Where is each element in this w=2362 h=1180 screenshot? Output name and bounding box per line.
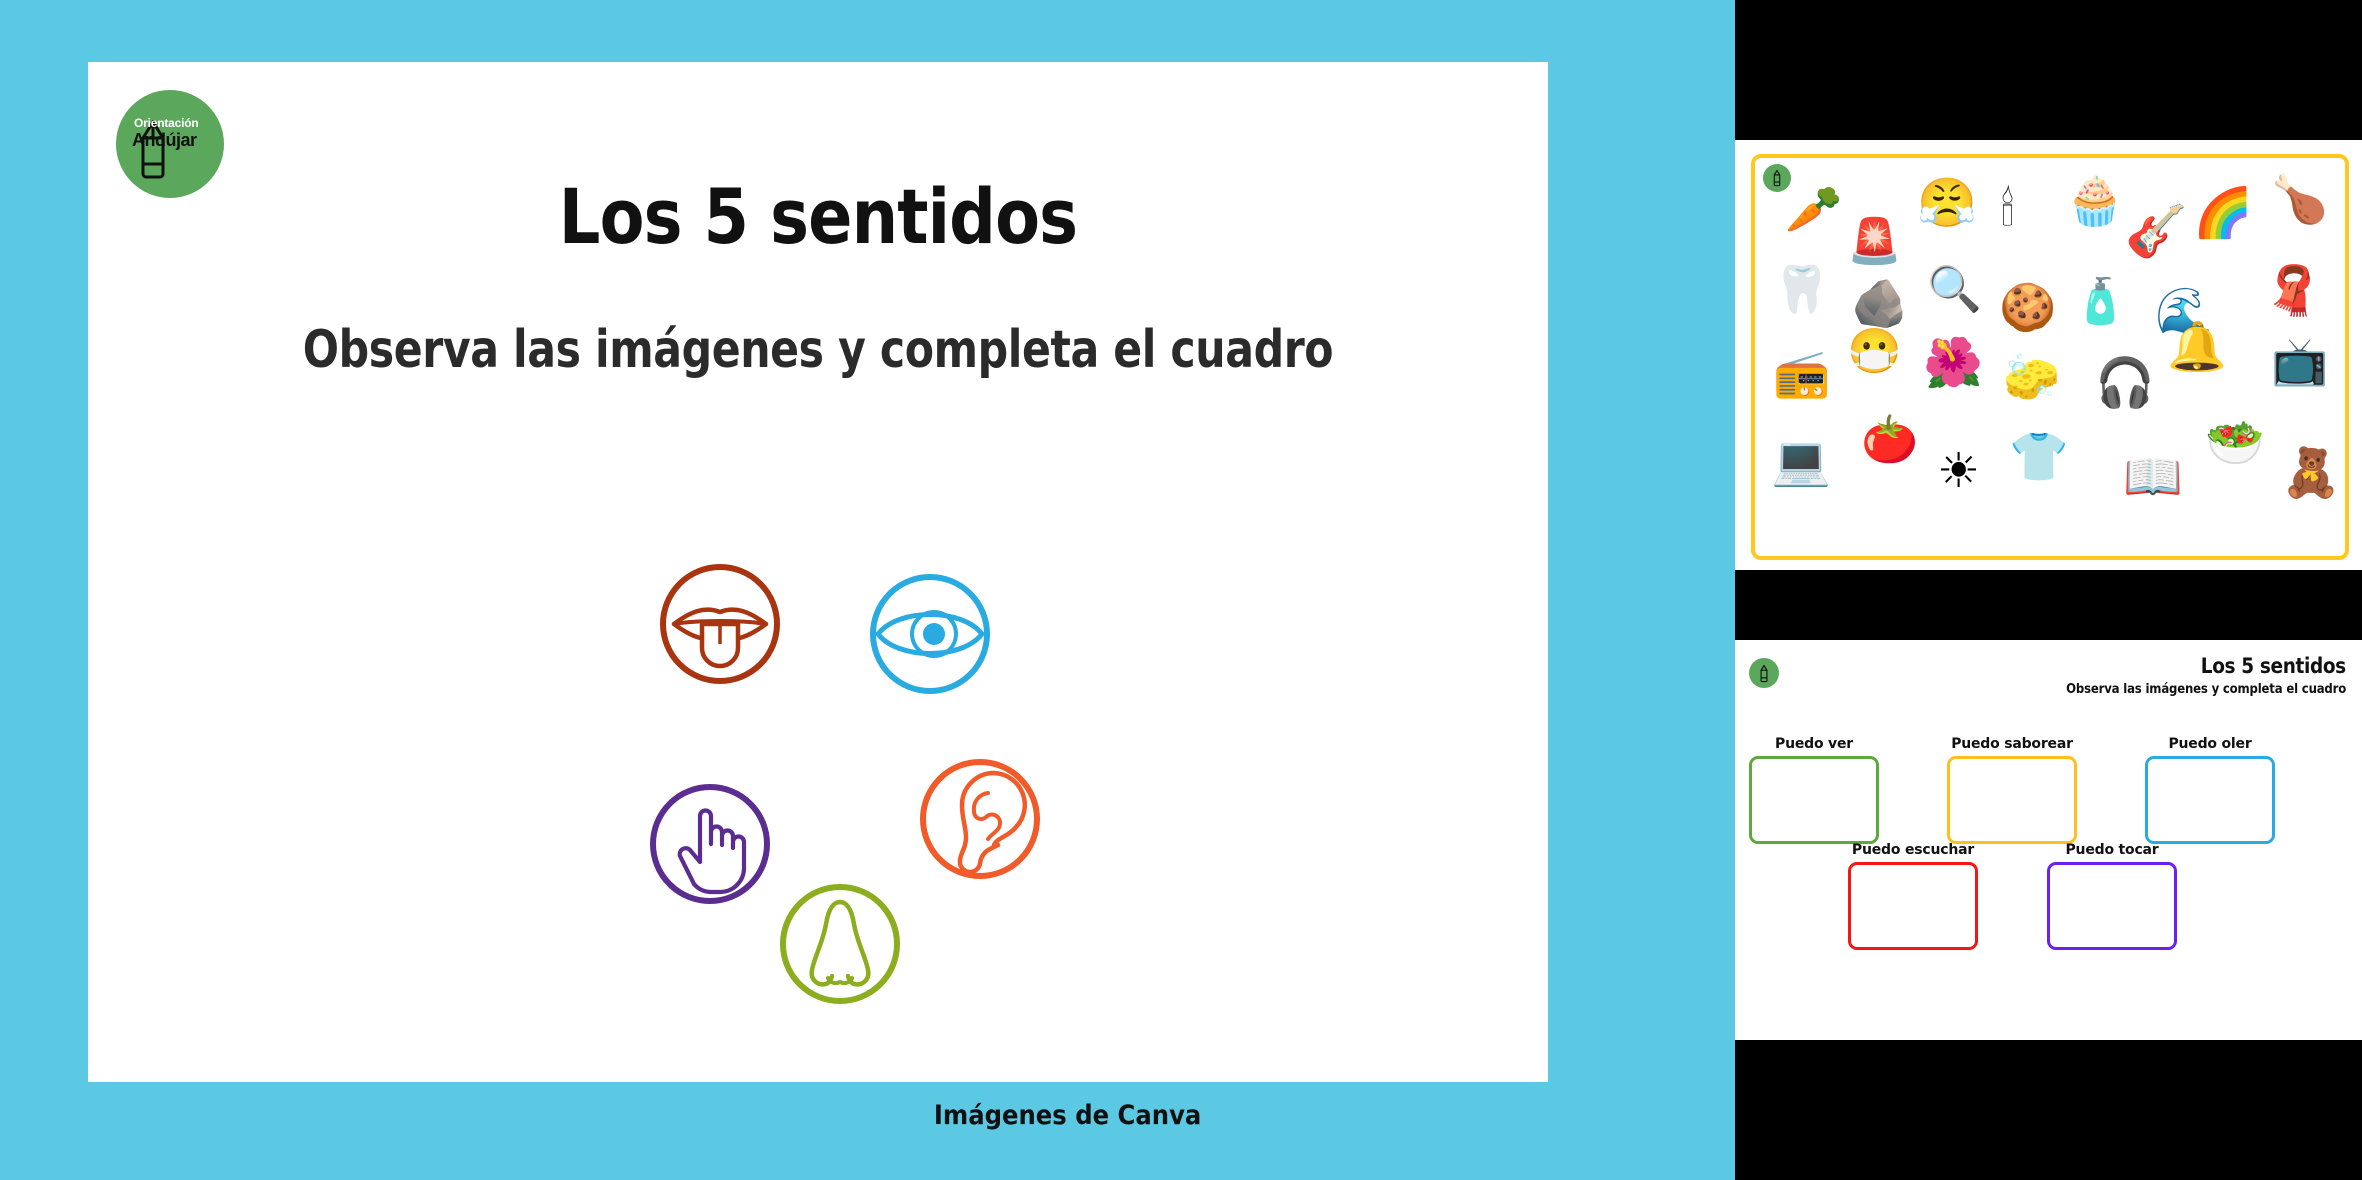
brand-logo[interactable]: Orientación Andújar	[116, 90, 224, 198]
answer-box-taste: Puedo saborear	[1947, 736, 2077, 844]
rock-sticker: 🪨	[1851, 280, 1908, 326]
rainbow-sticker: 🌈	[2193, 190, 2253, 238]
sense-icon-smell[interactable]	[778, 882, 902, 1006]
slide-pane: Los 5 sentidos Observa las imágenes y co…	[0, 0, 1735, 1180]
tshirt-sticker: 👕	[2009, 434, 2069, 482]
guitar-sticker: 🎸	[2125, 206, 2187, 256]
answer-box-smell: Puedo oler	[2145, 736, 2275, 844]
answer-box-label-sight: Puedo ver	[1749, 736, 1879, 752]
worksheet-panel: Los 5 sentidos Observa las imágenes y co…	[1735, 640, 2362, 1040]
salad-bowl-sticker: 🥗	[2205, 420, 2265, 468]
boy-with-mask-sticker: 😷	[1847, 330, 1902, 374]
mouth-tongue-icon	[658, 562, 782, 686]
page-subtitle: Observa las imágenes y completa el cuadr…	[219, 320, 1416, 380]
reed-diffuser-sticker: 🕯	[2001, 186, 2014, 232]
senses-diagram	[648, 552, 1168, 1092]
brand-logo-sheet[interactable]	[1749, 658, 1779, 688]
credit-text: Imágenes de Canva	[934, 1100, 1201, 1131]
brand-name-bottom: Andújar	[132, 130, 197, 151]
radio-sticker: 📻	[1773, 350, 1830, 396]
steaming-chicken-sticker: 🍗	[2271, 176, 2328, 222]
worksheet-subtitle: Observa las imágenes y completa el cuadr…	[2066, 682, 2346, 697]
answer-box-field-touch[interactable]	[2047, 862, 2177, 950]
sense-icon-sight[interactable]	[868, 572, 992, 696]
sun-sticker: ☀	[1937, 448, 1980, 496]
tomato-sticker: 🍅	[1861, 416, 1918, 462]
nose-icon	[778, 882, 902, 1006]
answer-box-touch: Puedo tocar	[2047, 842, 2177, 950]
page-title: Los 5 sentidos	[190, 172, 1446, 261]
bell-sticker: 🔔	[2167, 324, 2227, 372]
answer-box-label-touch: Puedo tocar	[2047, 842, 2177, 858]
answer-box-label-taste: Puedo saborear	[1947, 736, 2077, 752]
answer-box-field-taste[interactable]	[1947, 756, 2077, 844]
sense-icon-touch[interactable]	[648, 782, 772, 906]
pointing-hand-icon	[648, 782, 772, 906]
carrot-sticker: 🥕	[1785, 186, 1842, 232]
letterbox-top	[1735, 0, 2362, 140]
credit-line: Imágenes de Canva	[0, 1100, 1735, 1131]
answer-box-field-hearing[interactable]	[1848, 862, 1978, 950]
laptop-sticker: 💻	[1771, 438, 1831, 486]
television-sticker: 📺	[2271, 338, 2328, 384]
alarm-siren-sticker: 🚨	[1847, 220, 1902, 264]
sense-icon-taste[interactable]	[658, 562, 782, 686]
letterbox-middle	[1735, 570, 2362, 640]
stickers-panel: 🥕🚨😤🕯🧁🎸🌈🍗🦷🪨🔍🍪🧴🌊🧣📻😷🌺🧽🔔📺🎧💻🍅☀👕📖🥗🧸	[1735, 140, 2362, 570]
teddy-bear-sticker: 🧸	[2281, 450, 2341, 498]
cupcake-sticker: 🧁	[2065, 178, 2125, 226]
open-book-sticker: 📖	[2123, 454, 2183, 502]
answer-box-hearing: Puedo escuchar	[1848, 842, 1978, 950]
answer-box-label-smell: Puedo oler	[2145, 736, 2275, 752]
worksheet-title: Los 5 sentidos	[2201, 654, 2346, 678]
eye-icon	[868, 572, 992, 696]
sponge-sticker: 🧽	[2003, 354, 2060, 400]
pencil-icon	[1773, 170, 1781, 187]
sticker-grid: 🥕🚨😤🕯🧁🎸🌈🍗🦷🪨🔍🍪🧴🌊🧣📻😷🌺🧽🔔📺🎧💻🍅☀👕📖🥗🧸	[1755, 158, 2345, 556]
ear-icon	[918, 757, 1042, 881]
pencil-icon	[1760, 665, 1768, 683]
scarf-sticker: 🧣	[2263, 268, 2323, 316]
stickers-frame: 🥕🚨😤🕯🧁🎸🌈🍗🦷🪨🔍🍪🧴🌊🧣📻😷🌺🧽🔔📺🎧💻🍅☀👕📖🥗🧸	[1751, 154, 2349, 560]
answer-box-label-hearing: Puedo escuchar	[1848, 842, 1978, 858]
answer-box-field-smell[interactable]	[2145, 756, 2275, 844]
screen: Los 5 sentidos Observa las imágenes y co…	[0, 0, 2362, 1180]
man-smelling-sticker: 😤	[1917, 180, 1977, 228]
sense-icon-hearing[interactable]	[918, 757, 1042, 881]
headphones-sticker: 🎧	[2095, 360, 2155, 408]
right-column: 🥕🚨😤🕯🧁🎸🌈🍗🦷🪨🔍🍪🧴🌊🧣📻😷🌺🧽🔔📺🎧💻🍅☀👕📖🥗🧸 Los 5 sent…	[1735, 0, 2362, 1180]
rotten-tooth-sticker: 🦷	[1773, 266, 1830, 312]
flower-sticker: 🌺	[1923, 340, 1983, 388]
answer-box-sight: Puedo ver	[1749, 736, 1879, 844]
perfume-sticker: 🧴	[2073, 280, 2128, 324]
brand-logo-mini[interactable]	[1763, 164, 1791, 192]
cookie-sticker: 🍪	[1999, 284, 2056, 330]
slide-card: Los 5 sentidos Observa las imágenes y co…	[88, 62, 1548, 1082]
magnifying-glass-sticker: 🔍	[1927, 268, 1982, 312]
letterbox-bottom	[1735, 1040, 2362, 1180]
brand-name-top: Orientación	[134, 116, 198, 130]
answer-box-field-sight[interactable]	[1749, 756, 1879, 844]
